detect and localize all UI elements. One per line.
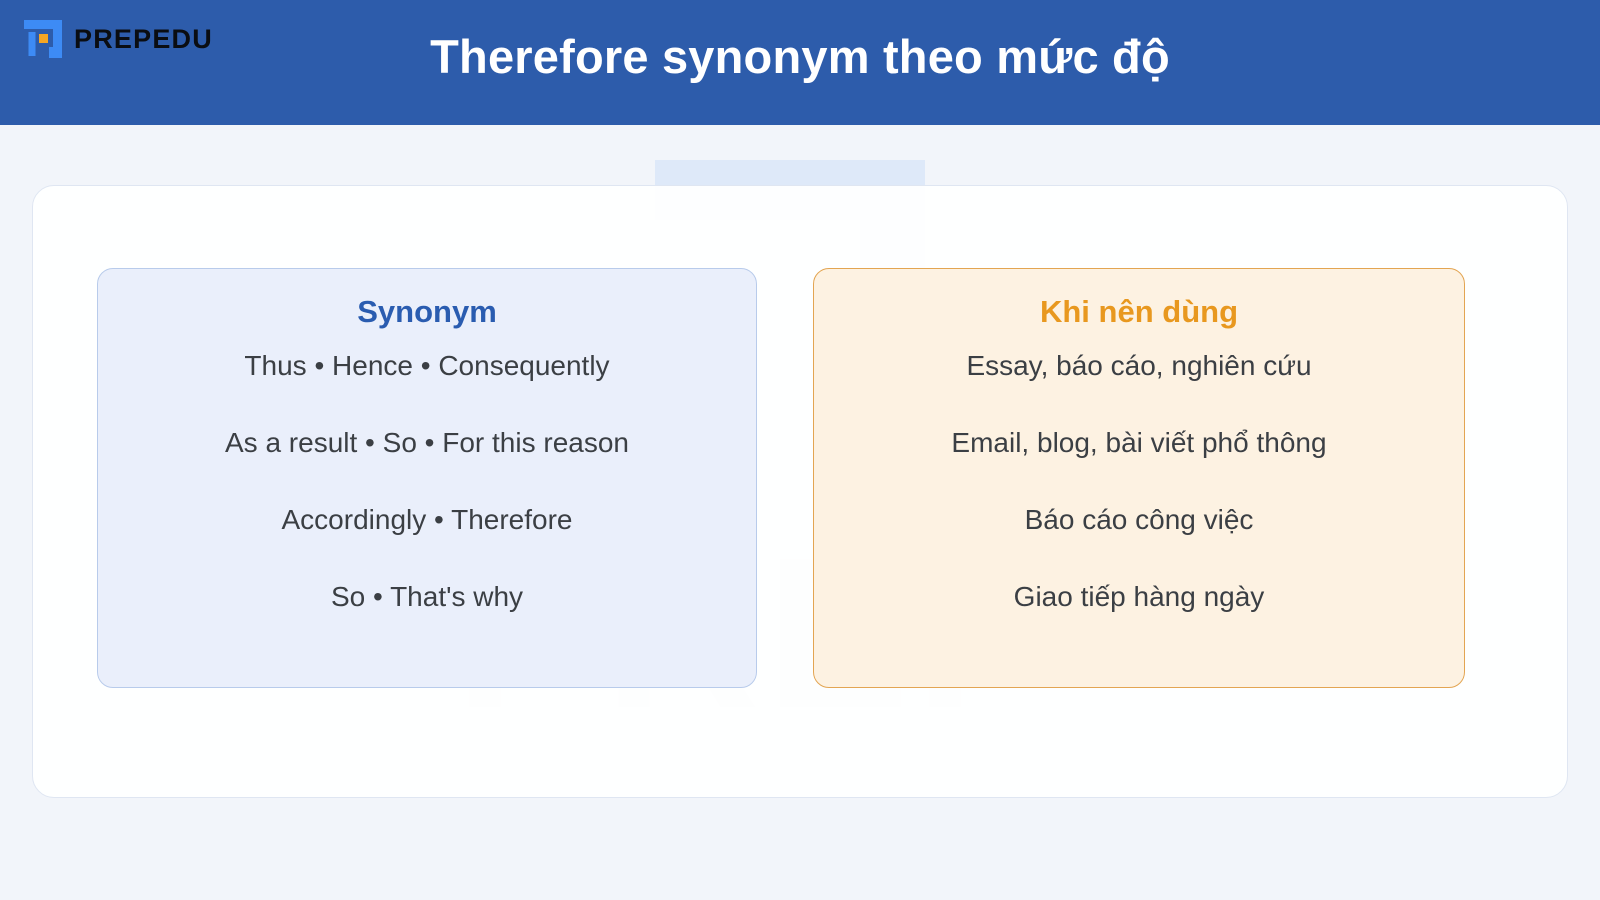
list-item: Giao tiếp hàng ngày <box>1014 579 1265 614</box>
card-synonym-lines: Thus • Hence • Consequently As a result … <box>98 348 756 614</box>
prep-bracket-logo-icon <box>22 18 64 60</box>
list-item: Thus • Hence • Consequently <box>244 348 609 383</box>
cards-row: Synonym Thus • Hence • Consequently As a… <box>33 186 1569 799</box>
infographic-page: PREP Synonym Thus • Hence • Consequently… <box>0 0 1600 900</box>
list-item: Essay, báo cáo, nghiên cứu <box>966 348 1311 383</box>
page-title: Therefore synonym theo mức độ <box>0 0 1600 125</box>
page-header: Therefore synonym theo mức độ PREPEDU <box>0 0 1600 125</box>
list-item: As a result • So • For this reason <box>225 425 629 460</box>
list-item: Accordingly • Therefore <box>282 502 573 537</box>
card-synonym-title: Synonym <box>357 293 497 330</box>
card-usage: Khi nên dùng Essay, báo cáo, nghiên cứu … <box>813 268 1465 688</box>
list-item: Email, blog, bài viết phổ thông <box>951 425 1326 460</box>
list-item: So • That's why <box>331 579 523 614</box>
card-usage-lines: Essay, báo cáo, nghiên cứu Email, blog, … <box>814 348 1464 614</box>
card-usage-title: Khi nên dùng <box>1040 293 1238 330</box>
content-panel: Synonym Thus • Hence • Consequently As a… <box>32 185 1568 798</box>
list-item: Báo cáo công việc <box>1025 502 1254 537</box>
brand-logo[interactable]: PREPEDU <box>22 18 213 60</box>
brand-name: PREPEDU <box>74 26 213 53</box>
card-synonym: Synonym Thus • Hence • Consequently As a… <box>97 268 757 688</box>
